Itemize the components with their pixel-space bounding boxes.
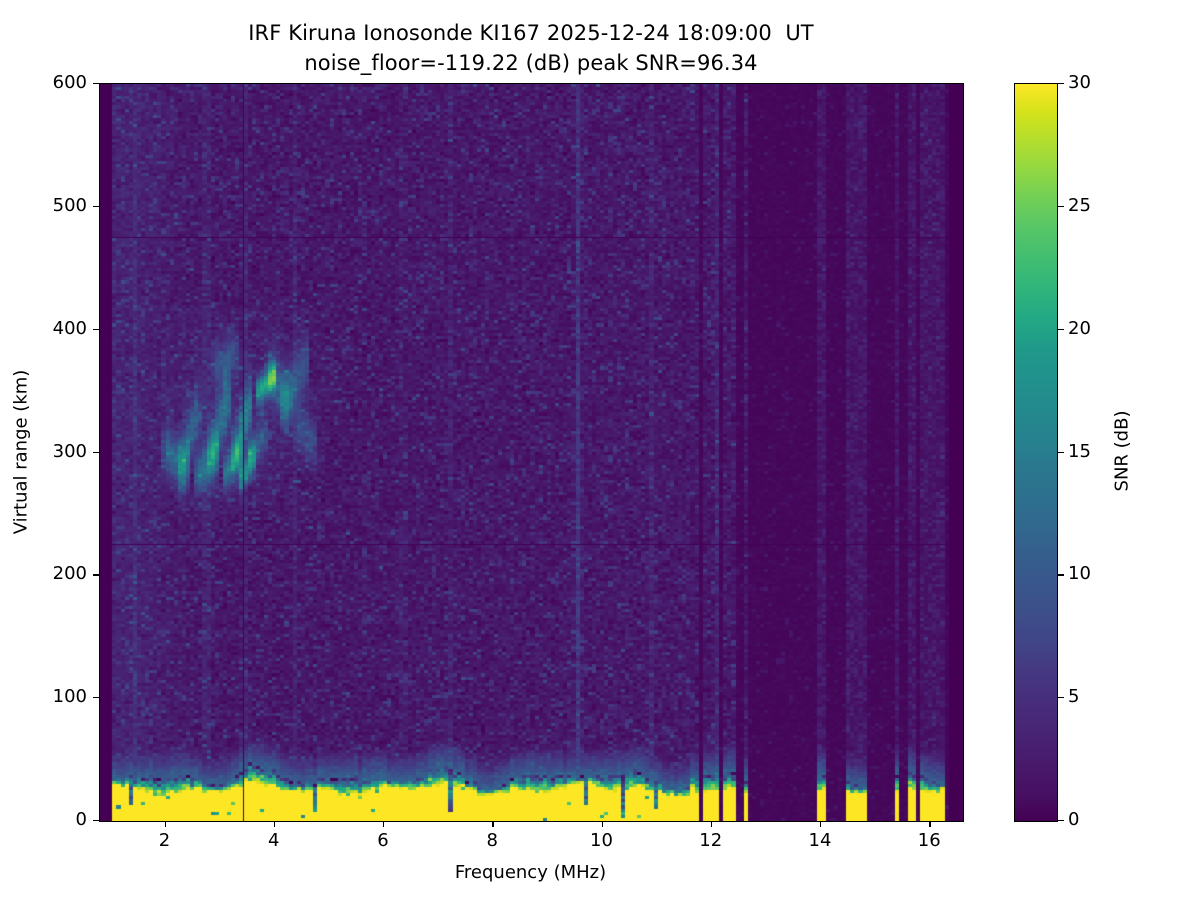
- colorbar-label: SNR (dB): [1112, 411, 1133, 492]
- title-line-2: noise_floor=-119.22 (dB) peak SNR=96.34: [0, 48, 1062, 78]
- ionogram-heatmap: [100, 84, 963, 821]
- x-tick-label: 10: [572, 832, 632, 850]
- y-tick-label: 600: [0, 74, 87, 92]
- colorbar-tick-label: 30: [1068, 74, 1091, 92]
- y-tick-mark: [93, 83, 99, 84]
- colorbar-tick-mark: [1058, 574, 1064, 575]
- colorbar-gradient: [1014, 83, 1058, 822]
- y-tick-label: 200: [0, 565, 87, 583]
- x-tick-mark: [492, 821, 493, 827]
- ionogram-figure: IRF Kiruna Ionosonde KI167 2025-12-24 18…: [0, 0, 1200, 900]
- y-tick-mark: [93, 329, 99, 330]
- colorbar-tick-mark: [1058, 697, 1064, 698]
- colorbar-tick-label: 5: [1068, 688, 1079, 706]
- colorbar-tick-label: 15: [1068, 443, 1091, 461]
- x-axis-label: Frequency (MHz): [99, 862, 962, 883]
- x-tick-mark: [820, 821, 821, 827]
- x-tick-mark: [602, 821, 603, 827]
- x-tick-mark: [165, 821, 166, 827]
- x-tick-label: 2: [135, 832, 195, 850]
- y-tick-mark: [93, 820, 99, 821]
- x-tick-label: 16: [899, 832, 959, 850]
- x-tick-label: 8: [462, 832, 522, 850]
- y-tick-label: 0: [0, 811, 87, 829]
- x-tick-label: 14: [790, 832, 850, 850]
- x-tick-label: 4: [244, 832, 304, 850]
- y-axis-label: Virtual range (km): [11, 369, 32, 534]
- colorbar-tick-mark: [1058, 206, 1064, 207]
- colorbar-tick-mark: [1058, 329, 1064, 330]
- x-tick-mark: [711, 821, 712, 827]
- x-tick-mark: [929, 821, 930, 827]
- x-tick-label: 6: [353, 832, 413, 850]
- colorbar-tick-label: 20: [1068, 320, 1091, 338]
- y-tick-label: 100: [0, 688, 87, 706]
- colorbar-tick-label: 10: [1068, 565, 1091, 583]
- x-tick-mark: [383, 821, 384, 827]
- ionogram-plot-area: [99, 83, 964, 822]
- colorbar-tick-label: 0: [1068, 811, 1079, 829]
- y-tick-mark: [93, 574, 99, 575]
- x-tick-label: 12: [681, 832, 741, 850]
- y-tick-mark: [93, 697, 99, 698]
- y-tick-label: 400: [0, 320, 87, 338]
- figure-title: IRF Kiruna Ionosonde KI167 2025-12-24 18…: [0, 18, 1062, 78]
- colorbar-tick-mark: [1058, 83, 1064, 84]
- y-tick-mark: [93, 206, 99, 207]
- x-tick-mark: [274, 821, 275, 827]
- title-line-1: IRF Kiruna Ionosonde KI167 2025-12-24 18…: [0, 18, 1062, 48]
- colorbar-tick-mark: [1058, 820, 1064, 821]
- colorbar-tick-mark: [1058, 452, 1064, 453]
- colorbar-tick-label: 25: [1068, 197, 1091, 215]
- y-tick-mark: [93, 452, 99, 453]
- y-tick-label: 500: [0, 197, 87, 215]
